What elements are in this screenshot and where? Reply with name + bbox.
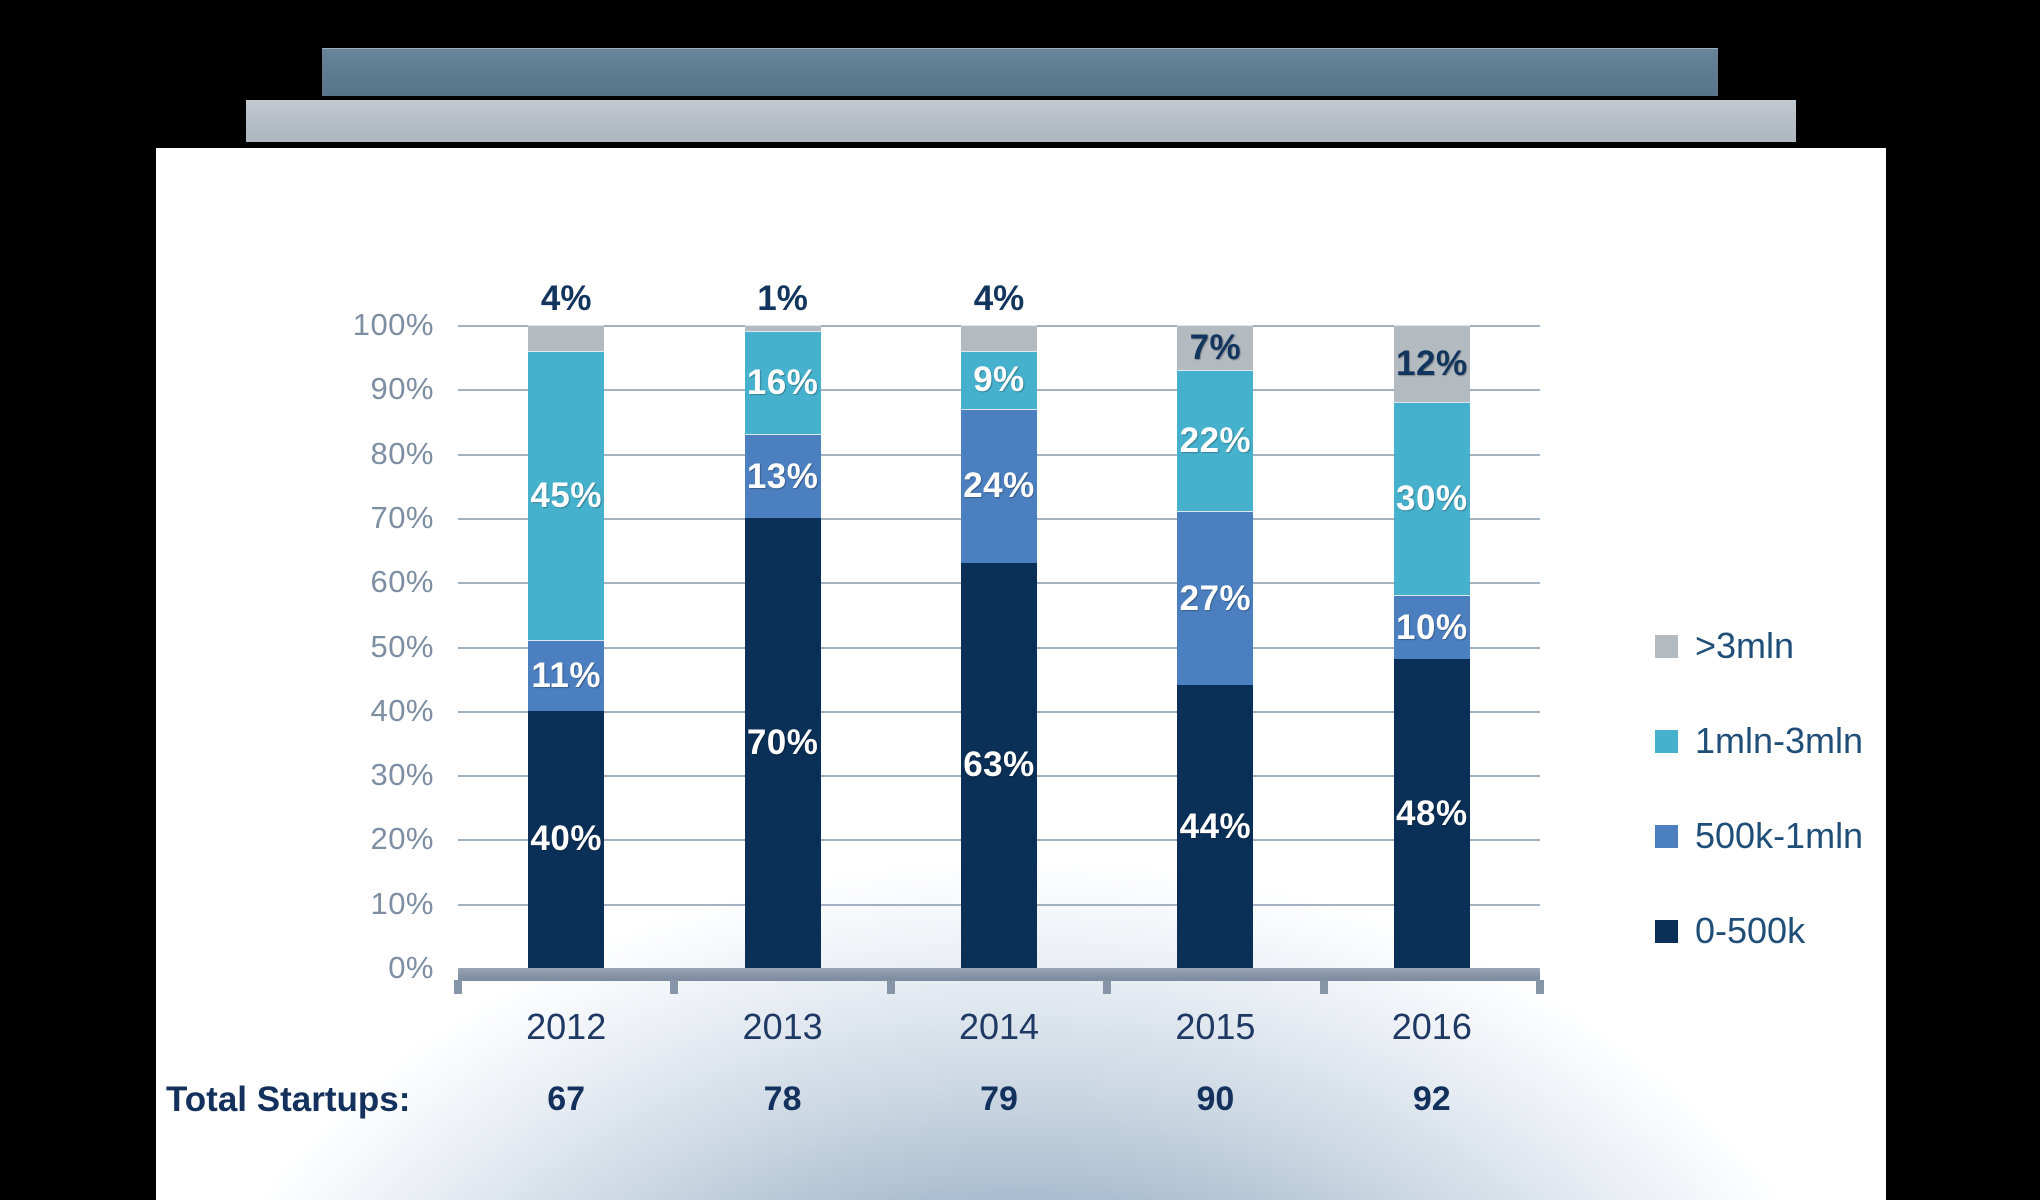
legend-item-1mln-3mln[interactable]: 1mln-3mln — [1655, 723, 1863, 759]
bar-column-2012[interactable]: 40%11%45% — [528, 325, 604, 968]
y-axis-tick-label: 0% — [310, 950, 434, 986]
total-startups-value: 79 — [909, 1080, 1089, 1119]
y-axis-tick-label: 30% — [310, 757, 434, 793]
legend-item-500k-1mln[interactable]: 500k-1mln — [1655, 818, 1863, 854]
legend-item-label: 500k-1mln — [1695, 818, 1863, 854]
x-axis-category-label: 2014 — [909, 1006, 1089, 1048]
legend-swatch-icon — [1655, 825, 1678, 848]
y-axis-tick-label: 70% — [310, 500, 434, 536]
bar-segment-0-500k[interactable]: 70% — [745, 518, 821, 968]
total-startups-value: 78 — [693, 1080, 873, 1119]
segment-value-label: 9% — [973, 360, 1025, 400]
segment-value-label: 45% — [530, 476, 602, 516]
legend-item--3mln[interactable]: >3mln — [1655, 628, 1794, 664]
header-accent-bar-dark — [322, 48, 1718, 96]
bar-segment-500k-1mln[interactable]: 13% — [745, 434, 821, 518]
bar-segment-500k-1mln[interactable]: 24% — [961, 409, 1037, 563]
bar-segment-500k-1mln[interactable]: 11% — [528, 640, 604, 711]
legend-swatch-icon — [1655, 635, 1678, 658]
bar-segment-0-500k[interactable]: 63% — [961, 563, 1037, 968]
bar-segment-500k-1mln[interactable]: 10% — [1394, 595, 1470, 659]
y-axis-tick-label: 10% — [310, 886, 434, 922]
header-accent-bar-light — [246, 100, 1796, 142]
content-panel: 100%90%80%70%60%50%40%30%20%10%0%4%40%11… — [156, 148, 1886, 1200]
segment-value-label: 63% — [963, 745, 1035, 785]
segment-value-label: 7% — [1190, 328, 1242, 368]
bar-segment-1mln-3mln[interactable]: 16% — [745, 331, 821, 434]
y-axis-tick-label: 80% — [310, 436, 434, 472]
x-axis-tick-mark — [1320, 980, 1328, 994]
segment-value-label: 12% — [1396, 344, 1468, 384]
total-startups-value: 92 — [1342, 1080, 1522, 1119]
x-axis-tick-mark — [454, 980, 462, 994]
x-axis-category-label: 2013 — [693, 1006, 873, 1048]
stacked-bar-chart: 100%90%80%70%60%50%40%30%20%10%0%4%40%11… — [156, 148, 1886, 1200]
x-axis-tick-mark — [1103, 980, 1111, 994]
bar-segment-1mln-3mln[interactable]: 45% — [528, 351, 604, 640]
segment-value-label: 10% — [1396, 608, 1468, 648]
legend-item-label: 1mln-3mln — [1695, 723, 1863, 759]
total-startups-value: 90 — [1125, 1080, 1305, 1119]
y-axis-tick-label: 90% — [310, 371, 434, 407]
segment-value-label: 48% — [1396, 794, 1468, 834]
segment-value-label-outside: 1% — [745, 279, 821, 319]
slide-canvas: 100%90%80%70%60%50%40%30%20%10%0%4%40%11… — [0, 0, 2040, 1200]
bar-segment--3mln[interactable] — [745, 325, 821, 331]
segment-value-label: 16% — [747, 363, 819, 403]
legend-item-label: >3mln — [1695, 628, 1794, 664]
x-axis-line — [458, 968, 1540, 981]
x-axis-tick-mark — [670, 980, 678, 994]
legend-item-label: 0-500k — [1695, 913, 1805, 949]
bar-segment-0-500k[interactable]: 44% — [1177, 685, 1253, 968]
x-axis-tick-mark — [887, 980, 895, 994]
bar-segment-500k-1mln[interactable]: 27% — [1177, 511, 1253, 685]
segment-value-label: 40% — [530, 819, 602, 859]
x-axis-tick-mark — [1536, 980, 1544, 994]
x-axis-category-label: 2015 — [1125, 1006, 1305, 1048]
segment-value-label-outside: 4% — [528, 279, 604, 319]
segment-value-label: 30% — [1396, 479, 1468, 519]
bar-column-2016[interactable]: 48%10%30%12% — [1394, 325, 1470, 968]
legend-swatch-icon — [1655, 920, 1678, 943]
y-axis-tick-label: 50% — [310, 629, 434, 665]
bar-segment--3mln[interactable]: 12% — [1394, 325, 1470, 402]
bar-column-2014[interactable]: 63%24%9% — [961, 325, 1037, 968]
segment-value-label: 13% — [747, 457, 819, 497]
bar-segment--3mln[interactable]: 7% — [1177, 325, 1253, 370]
bar-segment--3mln[interactable] — [528, 325, 604, 351]
x-axis-category-label: 2012 — [476, 1006, 656, 1048]
y-axis-tick-label: 100% — [310, 307, 434, 343]
segment-value-label: 22% — [1180, 421, 1252, 461]
segment-value-label: 27% — [1180, 579, 1252, 619]
segment-value-label: 70% — [747, 723, 819, 763]
bar-segment-0-500k[interactable]: 40% — [528, 711, 604, 968]
x-axis-category-label: 2016 — [1342, 1006, 1522, 1048]
total-startups-caption: Total Startups: — [166, 1080, 410, 1120]
segment-value-label: 44% — [1180, 807, 1252, 847]
bar-segment-1mln-3mln[interactable]: 22% — [1177, 370, 1253, 511]
bar-column-2013[interactable]: 70%13%16% — [745, 325, 821, 968]
total-startups-value: 67 — [476, 1080, 656, 1119]
segment-value-label: 24% — [963, 466, 1035, 506]
bar-segment-1mln-3mln[interactable]: 30% — [1394, 402, 1470, 595]
y-axis-tick-label: 20% — [310, 821, 434, 857]
bar-segment-1mln-3mln[interactable]: 9% — [961, 351, 1037, 409]
bar-column-2015[interactable]: 44%27%22%7% — [1177, 325, 1253, 968]
segment-value-label: 11% — [531, 656, 601, 696]
segment-value-label-outside: 4% — [961, 279, 1037, 319]
legend-swatch-icon — [1655, 730, 1678, 753]
bar-segment--3mln[interactable] — [961, 325, 1037, 351]
legend-item-0-500k[interactable]: 0-500k — [1655, 913, 1805, 949]
y-axis-tick-label: 40% — [310, 693, 434, 729]
y-axis-tick-label: 60% — [310, 564, 434, 600]
bar-segment-0-500k[interactable]: 48% — [1394, 659, 1470, 968]
